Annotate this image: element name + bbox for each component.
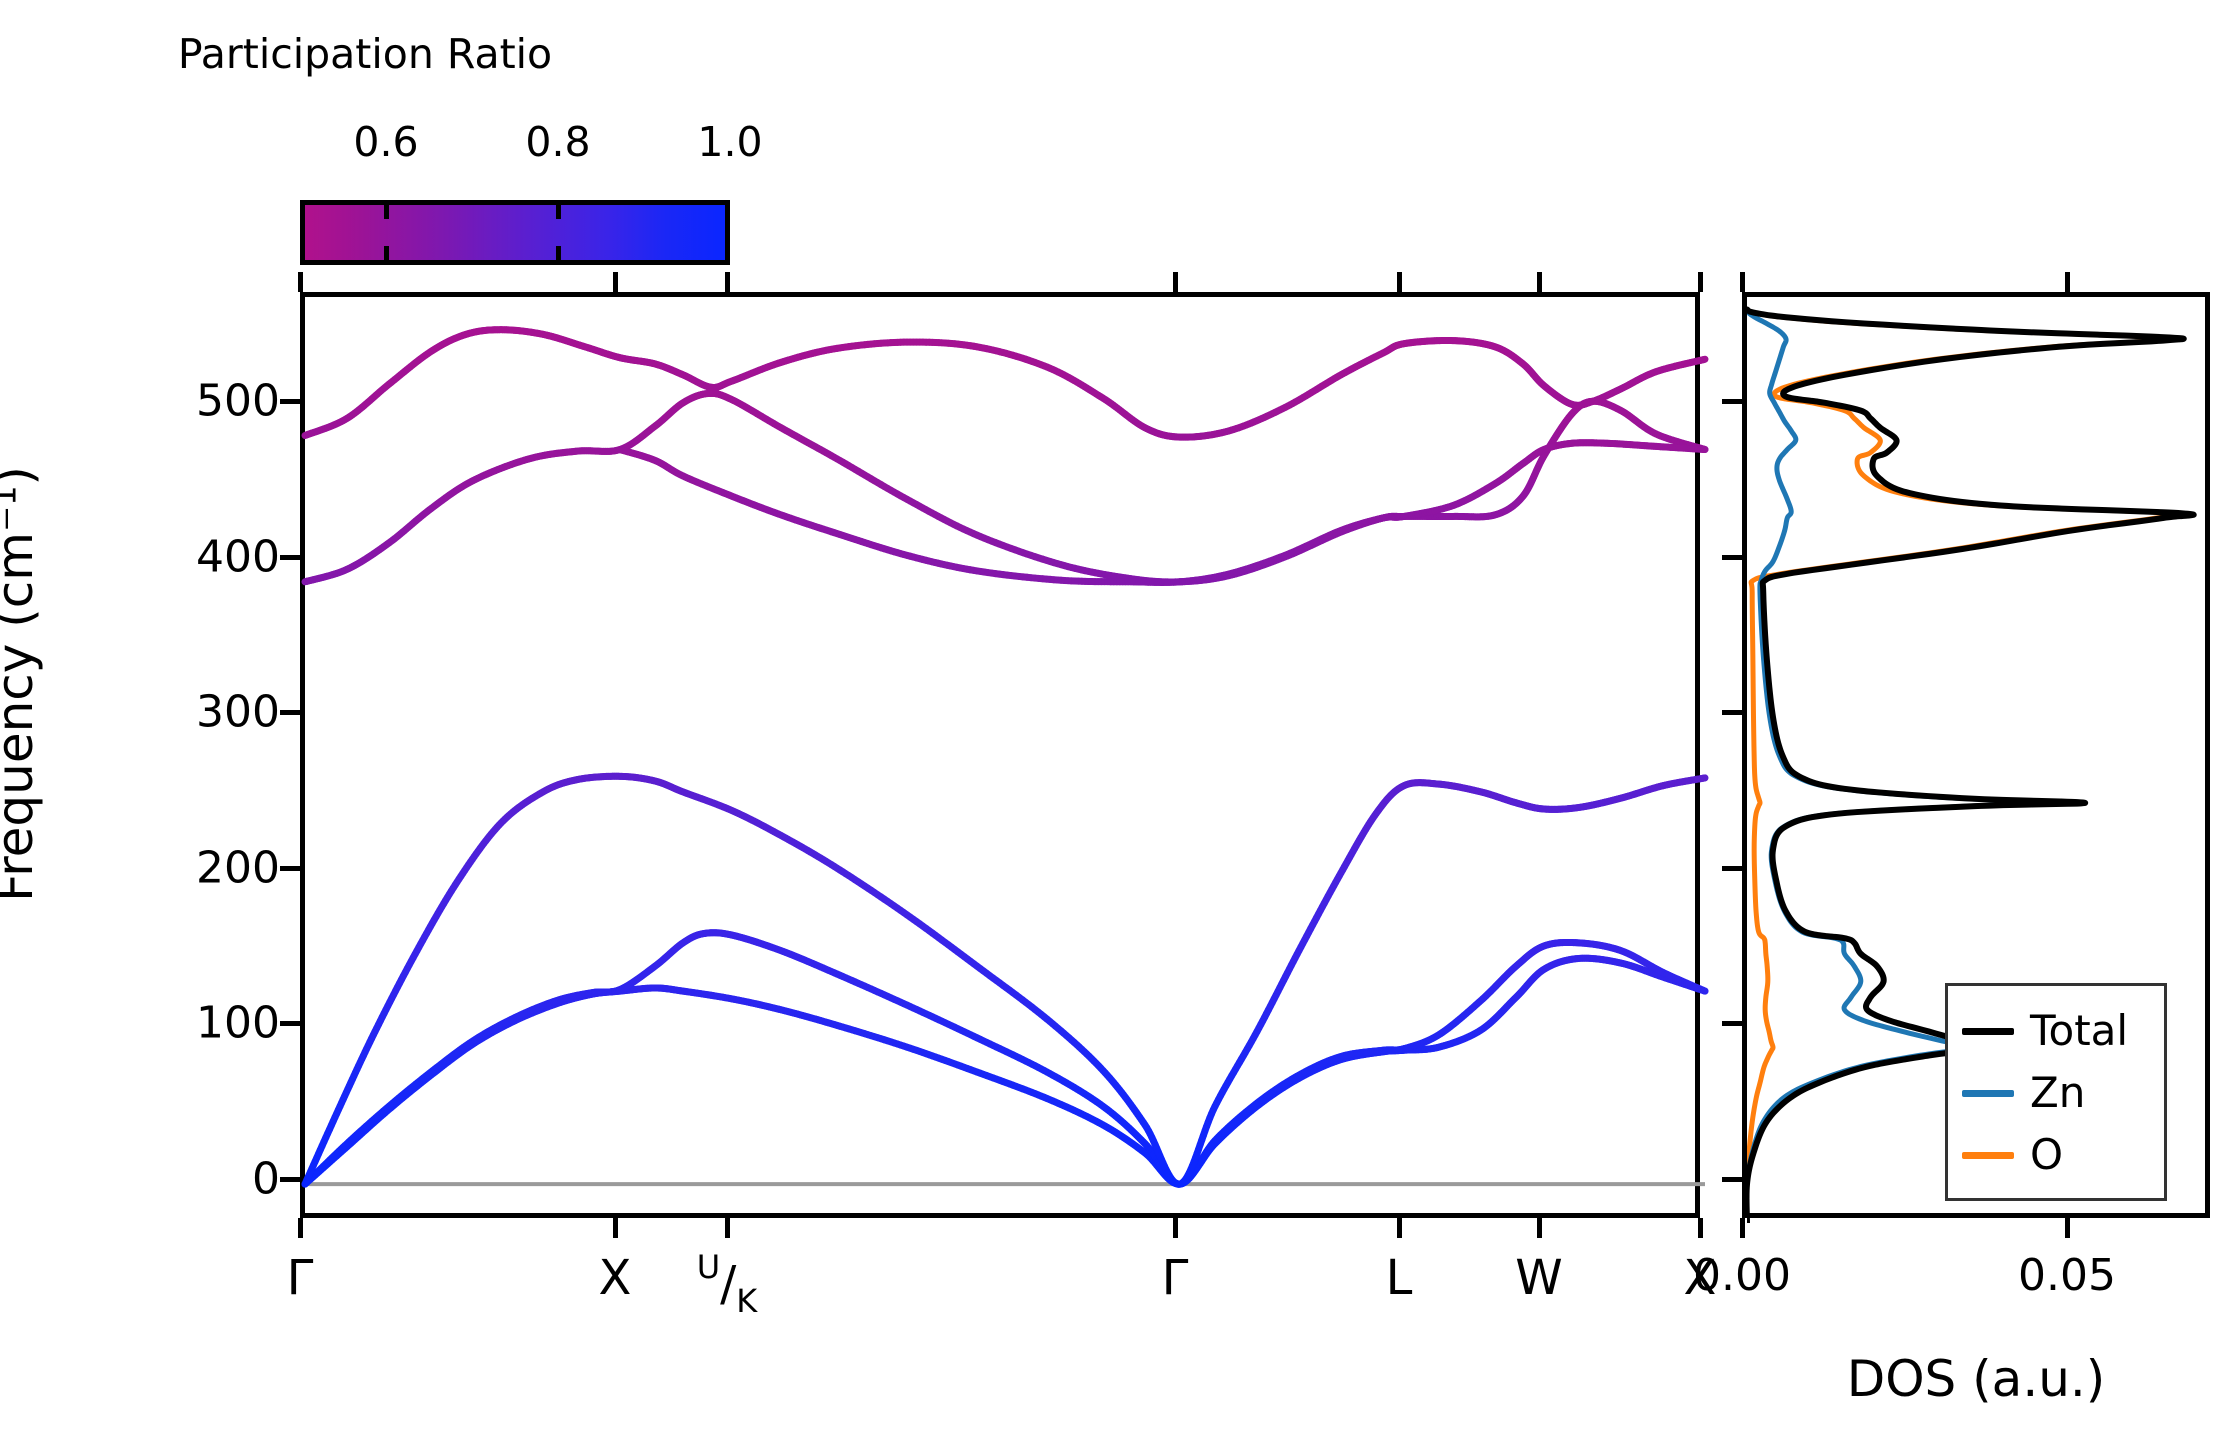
x-axis-tick [1537,1218,1542,1238]
x-axis-tick-top [1698,272,1703,292]
dos-y-axis-tick [1722,1177,1742,1182]
x-axis-tick-top [1537,272,1542,292]
colorbar-tick [556,246,561,260]
y-axis-tick [280,866,300,871]
dos-axis-title: DOS (a.u.) [1846,1350,2106,1408]
colorbar-tick [384,205,389,219]
band-curve [305,330,1705,437]
legend-label: O [2030,1134,2063,1176]
colorbar-tick-label: 1.0 [660,118,800,166]
legend-line-swatch [1962,1090,2014,1097]
y-axis-tick [280,1177,300,1182]
y-axis-title: Frequency (cm⁻¹) [0,284,44,1084]
dos-y-axis-tick [1722,555,1742,560]
x-axis-tick [613,1218,618,1238]
dos-x-axis-tick-label: 0.05 [1937,1250,2197,1301]
phonon-figure: Participation Ratio 0.60.81.0 Frequency … [0,0,2222,1455]
x-axis-tick [1397,1218,1402,1238]
y-axis-tick-label: 200 [196,842,280,893]
x-axis-tick [725,1218,730,1238]
x-axis-tick-top [1397,272,1402,292]
x-axis-tick [298,1218,303,1238]
y-axis-tick-label: 300 [196,687,280,738]
colorbar-title: Participation Ratio [150,30,580,78]
band-structure-axes[interactable] [300,292,1700,1218]
y-axis-tick-label: 500 [196,375,280,426]
band-curve [305,958,1705,1184]
band-curve [305,776,1705,1184]
y-axis-tick-label: 400 [196,531,280,582]
dos-x-axis-tick-top [1740,272,1745,292]
dos-y-axis-tick [1722,866,1742,871]
dos-x-axis-tick-label: 0.00 [1612,1250,1872,1301]
band-curve [305,933,1705,1184]
x-axis-tick-top [613,272,618,292]
dos-legend: TotalZnO [1945,983,2167,1201]
dos-x-axis-tick [1740,1218,1745,1238]
y-axis-tick [280,710,300,715]
legend-item: Zn [1948,1062,2164,1124]
x-axis-tick-label: U/K [627,1250,827,1322]
x-axis-tick [1698,1218,1703,1238]
legend-line-swatch [1962,1028,2014,1035]
dos-y-axis-tick [1722,710,1742,715]
y-axis-tick [280,399,300,404]
x-axis-tick-top [1173,272,1178,292]
dos-y-axis-tick [1722,399,1742,404]
legend-line-swatch [1962,1152,2014,1159]
legend-item: Total [1948,1000,2164,1062]
x-axis-tick-label: Γ [1075,1250,1275,1306]
x-axis-tick-label: Γ [200,1250,400,1306]
x-axis-tick [1173,1218,1178,1238]
dos-x-axis-tick-top [2065,272,2070,292]
colorbar-tick-label: 0.6 [316,118,456,166]
y-axis-tick-labels: 0100200300400500 [110,292,280,1218]
y-axis-tick-label: 0 [252,1154,280,1205]
colorbar-tick [556,205,561,219]
dos-y-axis-tick [1722,1021,1742,1026]
colorbar-gradient [300,200,730,265]
colorbar-tick-label: 0.8 [488,118,628,166]
colorbar-tick [384,246,389,260]
colorbar[interactable] [300,200,730,265]
legend-item: O [1948,1124,2164,1186]
y-axis-tick-label: 100 [196,998,280,1049]
band-structure-plot [300,292,1710,1228]
y-axis-tick [280,1021,300,1026]
x-axis-tick-top [298,272,303,292]
legend-label: Zn [2030,1072,2085,1114]
y-axis-tick [280,555,300,560]
dos-x-axis-tick [2065,1218,2070,1238]
x-axis-tick-top [725,272,730,292]
legend-label: Total [2030,1010,2128,1052]
